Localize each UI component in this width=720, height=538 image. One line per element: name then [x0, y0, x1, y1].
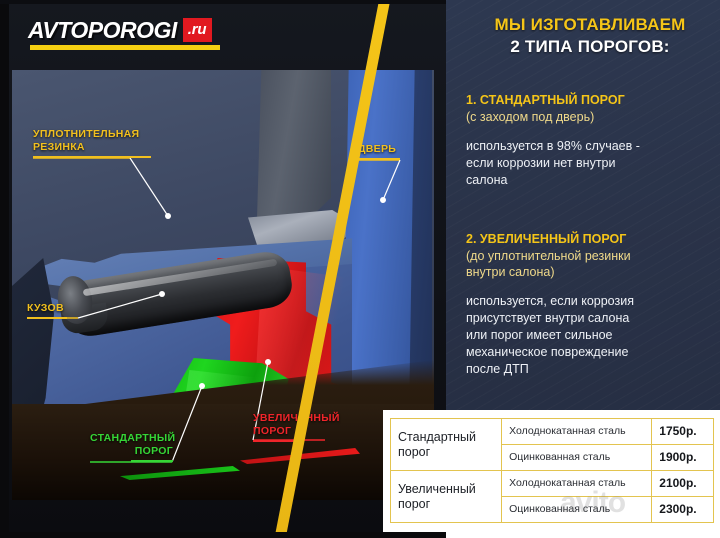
logo-wordmark: AVTOPOROGI — [28, 18, 177, 42]
frame-bottom — [0, 532, 446, 538]
headline: МЫ ИЗГОТАВЛИВАЕМ 2 ТИПА ПОРОГОВ: — [466, 14, 714, 58]
info-block-enlarged-body: используется, если коррозия присутствует… — [466, 293, 712, 378]
label-standard-sill-text: СТАНДАРТНЫЙ ПОРОГ — [90, 432, 173, 458]
logo-ru-badge: .ru — [183, 18, 213, 42]
ground-base — [12, 404, 434, 500]
logo-underline-bar — [30, 45, 220, 50]
label-body: КУЗОВ — [27, 302, 67, 319]
poster-root: УПЛОТНИТЕЛЬНАЯ РЕЗИНКА ДВЕРЬ КУЗОВ СТАНД… — [0, 0, 720, 538]
label-underline — [131, 460, 173, 462]
info-block-enlarged-title: 2. УВЕЛИЧЕННЫЙ ПОРОГ — [466, 231, 712, 248]
price-row-price: 1900р. — [652, 445, 714, 471]
headline-line-2: 2 ТИПА ПОРОГОВ: — [466, 36, 714, 58]
info-block-standard-subtitle: (с заходом под дверь) — [466, 109, 712, 125]
price-row-price: 2100р. — [652, 471, 714, 497]
info-block-enlarged-subtitle: (до уплотнительной резинки внутри салона… — [466, 248, 712, 280]
price-row-material: Оцинкованная сталь — [502, 445, 652, 471]
label-standard-sill: СТАНДАРТНЫЙ ПОРОГ — [90, 432, 173, 462]
price-row-price: 1750р. — [652, 419, 714, 445]
table-row: Увеличенный порог Холоднокатанная сталь … — [391, 471, 714, 497]
price-row-material: Холоднокатанная сталь — [502, 471, 652, 497]
frame-left — [0, 0, 9, 538]
label-underline — [253, 440, 295, 442]
label-rubber-seal: УПЛОТНИТЕЛЬНАЯ РЕЗИНКА — [33, 128, 151, 158]
table-row: Стандартный порог Холоднокатанная сталь … — [391, 419, 714, 445]
price-row-name: Увеличенный порог — [391, 471, 502, 523]
label-door: ДВЕРЬ — [358, 143, 400, 160]
price-row-material: Оцинкованная сталь — [502, 497, 652, 523]
info-block-standard-body: используется в 98% случаев - если корроз… — [466, 138, 712, 189]
label-underline — [358, 158, 400, 160]
diagram-pane: УПЛОТНИТЕЛЬНАЯ РЕЗИНКА ДВЕРЬ КУЗОВ СТАНД… — [0, 0, 446, 538]
label-rubber-seal-text: УПЛОТНИТЕЛЬНАЯ РЕЗИНКА — [33, 128, 151, 154]
label-underline — [33, 156, 151, 158]
label-underline — [27, 317, 67, 319]
headline-line-1: МЫ ИЗГОТАВЛИВАЕМ — [466, 14, 714, 36]
price-row-name: Стандартный порог — [391, 419, 502, 471]
brand-logo[interactable]: AVTOPOROGI .ru — [28, 18, 212, 42]
info-block-enlarged: 2. УВЕЛИЧЕННЫЙ ПОРОГ (до уплотнительной … — [466, 231, 712, 378]
info-block-standard-title: 1. СТАНДАРТНЫЙ ПОРОГ — [466, 92, 712, 109]
frame-top — [0, 0, 446, 4]
label-door-text: ДВЕРЬ — [358, 143, 400, 156]
price-row-material: Холоднокатанная сталь — [502, 419, 652, 445]
price-row-price: 2300р. — [652, 497, 714, 523]
label-body-text: КУЗОВ — [27, 302, 67, 315]
price-table: Стандартный порог Холоднокатанная сталь … — [390, 418, 714, 523]
info-block-standard: 1. СТАНДАРТНЫЙ ПОРОГ (с заходом под двер… — [466, 92, 712, 189]
